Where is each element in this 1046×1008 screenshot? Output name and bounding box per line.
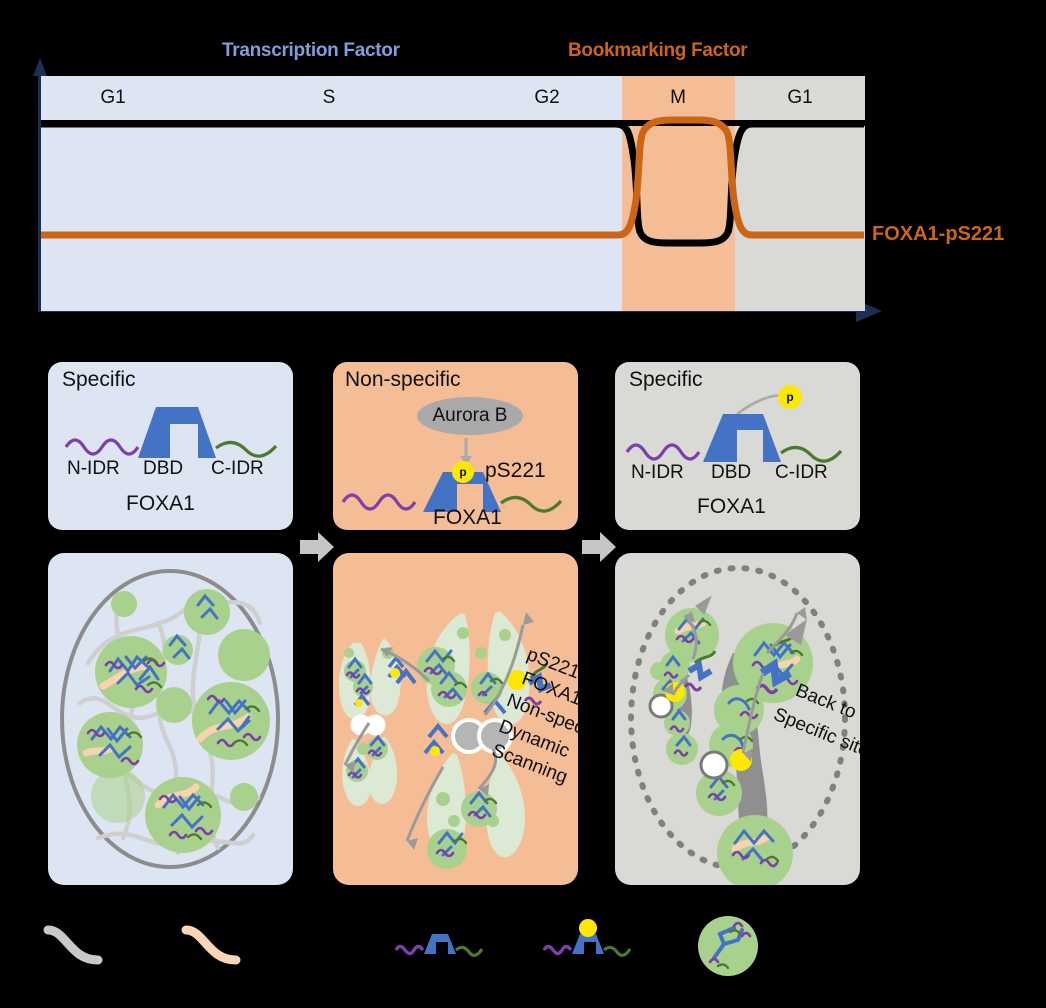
domain-label-dbd-interphase: DBD (143, 458, 183, 480)
cell-panel-early-g1: Back to Specific site (615, 553, 860, 885)
phospho-group-icon-released: p (778, 385, 802, 409)
step-arrow-icon-1 (298, 530, 338, 566)
legend-icon-dna-peach (178, 912, 268, 972)
cell-cycle-chart: Transcription Factor Bookmarking Factor … (0, 0, 1046, 340)
schematic-panel-interphase: Specific N-IDR DBD C-IDR FOXA1 (48, 362, 293, 530)
legend-icon-foxa1 (390, 918, 490, 974)
interphase-nucleus-illustration (48, 553, 293, 885)
cell-panel-mitosis: pS221- FOXA1 Non-spec Dynamic Scanning (333, 553, 578, 885)
cell-panel-interphase (48, 553, 293, 885)
domain-label-n-idr-early-g1: N-IDR (631, 462, 684, 484)
chart-curves (0, 0, 1046, 340)
protein-name-interphase: FOXA1 (126, 492, 195, 516)
protein-name-mitosis: FOXA1 (433, 506, 502, 530)
figure-legend (0, 900, 1046, 1008)
protein-name-early-g1: FOXA1 (697, 495, 766, 519)
foxa1-glyph-mitosis (333, 362, 578, 530)
domain-label-n-idr-interphase: N-IDR (67, 458, 120, 480)
schematic-panel-early-g1: Specific p N-IDR DBD C-IDR FOXA1 (615, 362, 860, 530)
phospho-group-icon-mitosis: p (452, 461, 474, 483)
early-g1-nucleus-illustration (615, 553, 860, 885)
series-label-foxa1-ps221: FOXA1-pS221 (872, 223, 1004, 246)
legend-icon-condensate (690, 906, 770, 986)
legend-icon-foxa1-ps221 (538, 912, 638, 974)
step-arrow-icon-2 (580, 530, 620, 566)
legend-icon-dna-gray (40, 912, 130, 972)
domain-label-c-idr-early-g1: C-IDR (775, 462, 828, 484)
domain-label-dbd-early-g1: DBD (711, 462, 751, 484)
phospho-site-label-ps221: pS221 (485, 459, 546, 483)
schematic-panel-mitosis: Non-specific Aurora B p pS221 FOXA1 (333, 362, 578, 530)
domain-label-c-idr-interphase: C-IDR (211, 458, 264, 480)
